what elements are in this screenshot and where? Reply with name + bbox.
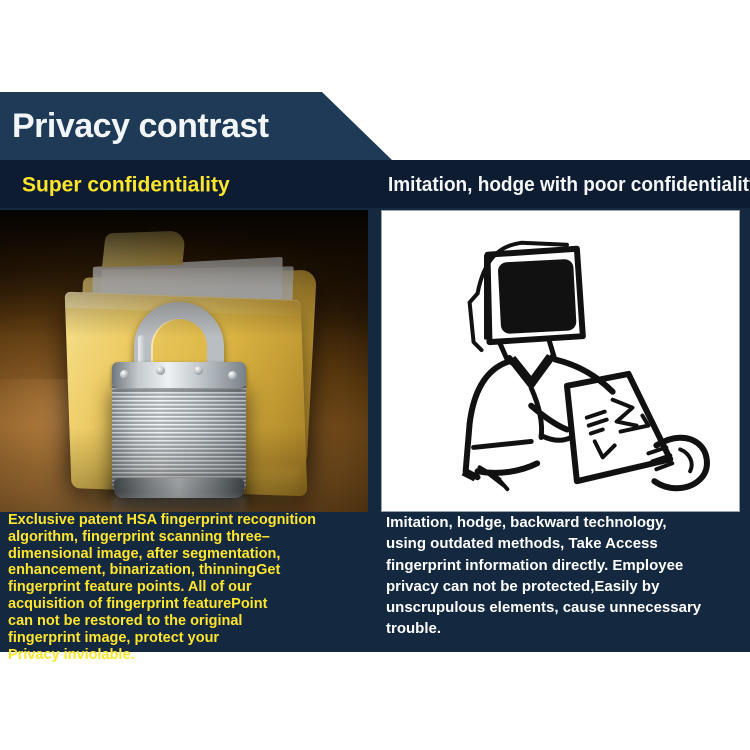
left-panel-caption: Exclusive patent HSA fingerprint recogni… bbox=[8, 512, 370, 663]
monitor-head-sketch-image bbox=[381, 210, 740, 512]
sketch-drawing bbox=[382, 211, 739, 511]
right-panel-caption: Imitation, hodge, backward technology, u… bbox=[386, 512, 744, 640]
padlock-folder-image bbox=[0, 210, 368, 512]
title-bar: Privacy contrast bbox=[0, 92, 750, 160]
image-vignette bbox=[0, 210, 368, 512]
left-panel-heading: Super confidentiality bbox=[22, 175, 230, 196]
right-panel-heading: Imitation, hodge with poor confidentiali… bbox=[388, 175, 750, 195]
privacy-contrast-banner: Privacy contrast Super confidentiality I… bbox=[0, 0, 750, 750]
subheading-band: Super confidentiality Imitation, hodge w… bbox=[0, 160, 750, 210]
page-title: Privacy contrast bbox=[12, 109, 269, 143]
